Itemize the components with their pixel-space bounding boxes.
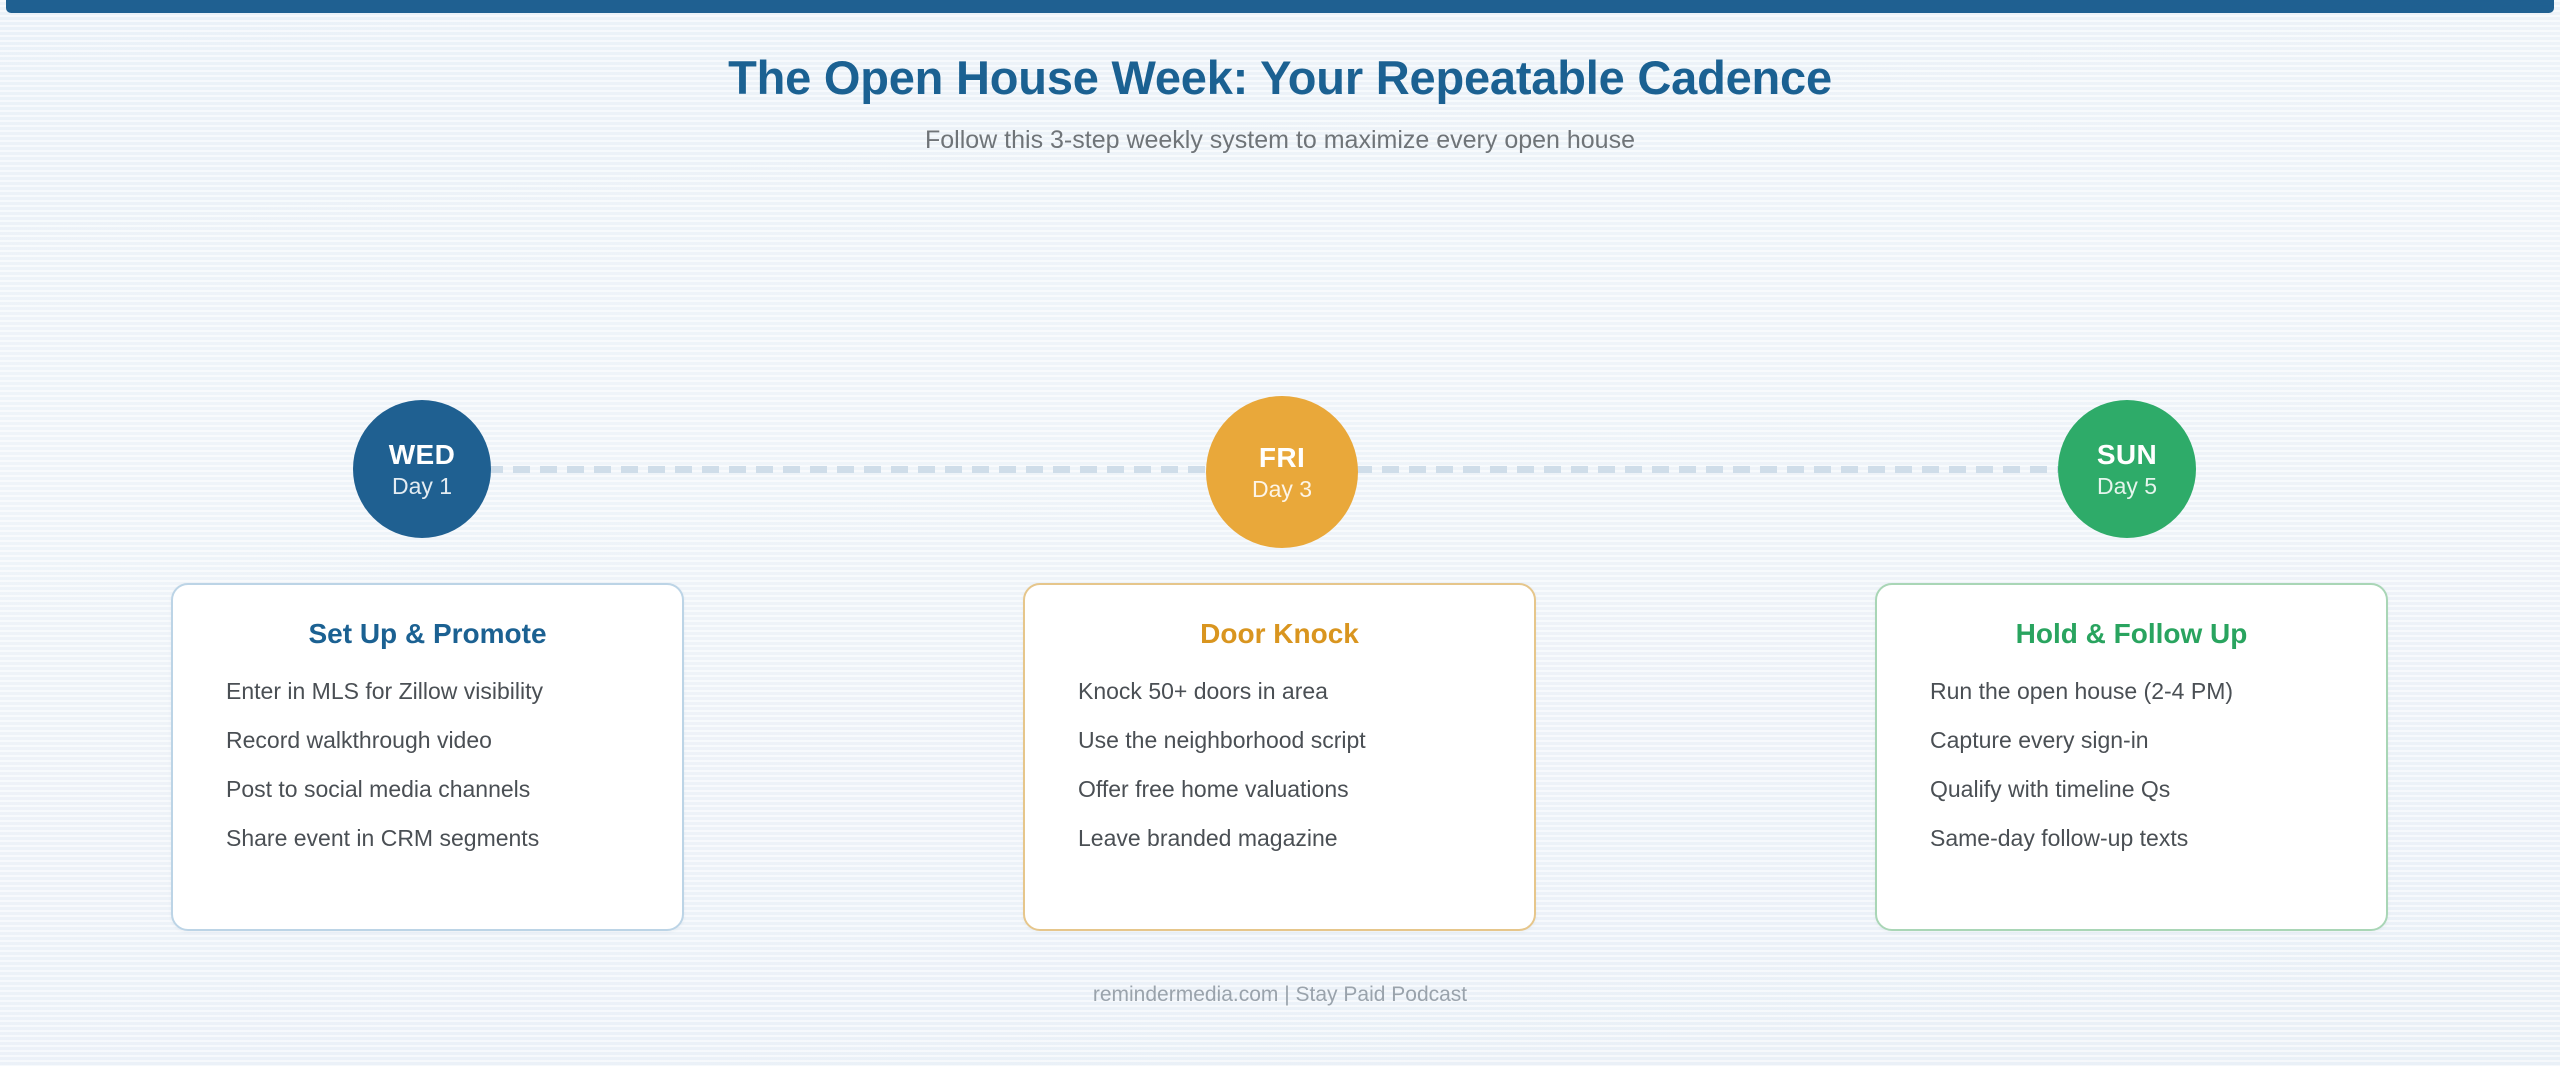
page-subtitle: Follow this 3-step weekly system to maxi… [0, 126, 2560, 155]
node-day-abbr: WED [389, 440, 456, 469]
node-day-number: Day 1 [392, 474, 452, 498]
list-item: Knock 50+ doors in area [1078, 680, 1534, 703]
top-accent-bar [6, 0, 2554, 13]
page-title: The Open House Week: Your Repeatable Cad… [0, 52, 2560, 104]
timeline-node-wed[interactable]: WED Day 1 [353, 400, 491, 538]
node-day-number: Day 3 [1252, 477, 1312, 501]
list-item: Run the open house (2-4 PM) [1930, 680, 2386, 703]
infographic-canvas: The Open House Week: Your Repeatable Cad… [0, 0, 2560, 1066]
footer-attribution: remindermedia.com | Stay Paid Podcast [0, 983, 2560, 1007]
list-item: Qualify with timeline Qs [1930, 778, 2386, 801]
timeline-node-sun[interactable]: SUN Day 5 [2058, 400, 2196, 538]
list-item: Use the neighborhood script [1078, 729, 1534, 752]
step-card-set-up-and-promote[interactable]: Set Up & Promote Enter in MLS for Zillow… [171, 583, 684, 931]
card-title: Door Knock [1025, 618, 1534, 650]
step-card-hold-and-follow-up[interactable]: Hold & Follow Up Run the open house (2-4… [1875, 583, 2388, 931]
header: The Open House Week: Your Repeatable Cad… [0, 52, 2560, 155]
list-item: Post to social media channels [226, 778, 682, 801]
card-item-list: Knock 50+ doors in area Use the neighbor… [1025, 680, 1534, 850]
card-item-list: Enter in MLS for Zillow visibility Recor… [173, 680, 682, 850]
node-day-abbr: SUN [2097, 440, 2157, 469]
list-item: Record walkthrough video [226, 729, 682, 752]
list-item: Offer free home valuations [1078, 778, 1534, 801]
list-item: Capture every sign-in [1930, 729, 2386, 752]
card-item-list: Run the open house (2-4 PM) Capture ever… [1877, 680, 2386, 850]
list-item: Leave branded magazine [1078, 827, 1534, 850]
list-item: Same-day follow-up texts [1930, 827, 2386, 850]
card-title: Set Up & Promote [173, 618, 682, 650]
list-item: Share event in CRM segments [226, 827, 682, 850]
card-title: Hold & Follow Up [1877, 618, 2386, 650]
node-day-abbr: FRI [1259, 443, 1305, 472]
node-day-number: Day 5 [2097, 474, 2157, 498]
timeline-connector-1 [486, 466, 1208, 473]
timeline-node-fri[interactable]: FRI Day 3 [1206, 396, 1358, 548]
list-item: Enter in MLS for Zillow visibility [226, 680, 682, 703]
timeline-connector-2 [1355, 466, 2075, 473]
step-card-door-knock[interactable]: Door Knock Knock 50+ doors in area Use t… [1023, 583, 1536, 931]
